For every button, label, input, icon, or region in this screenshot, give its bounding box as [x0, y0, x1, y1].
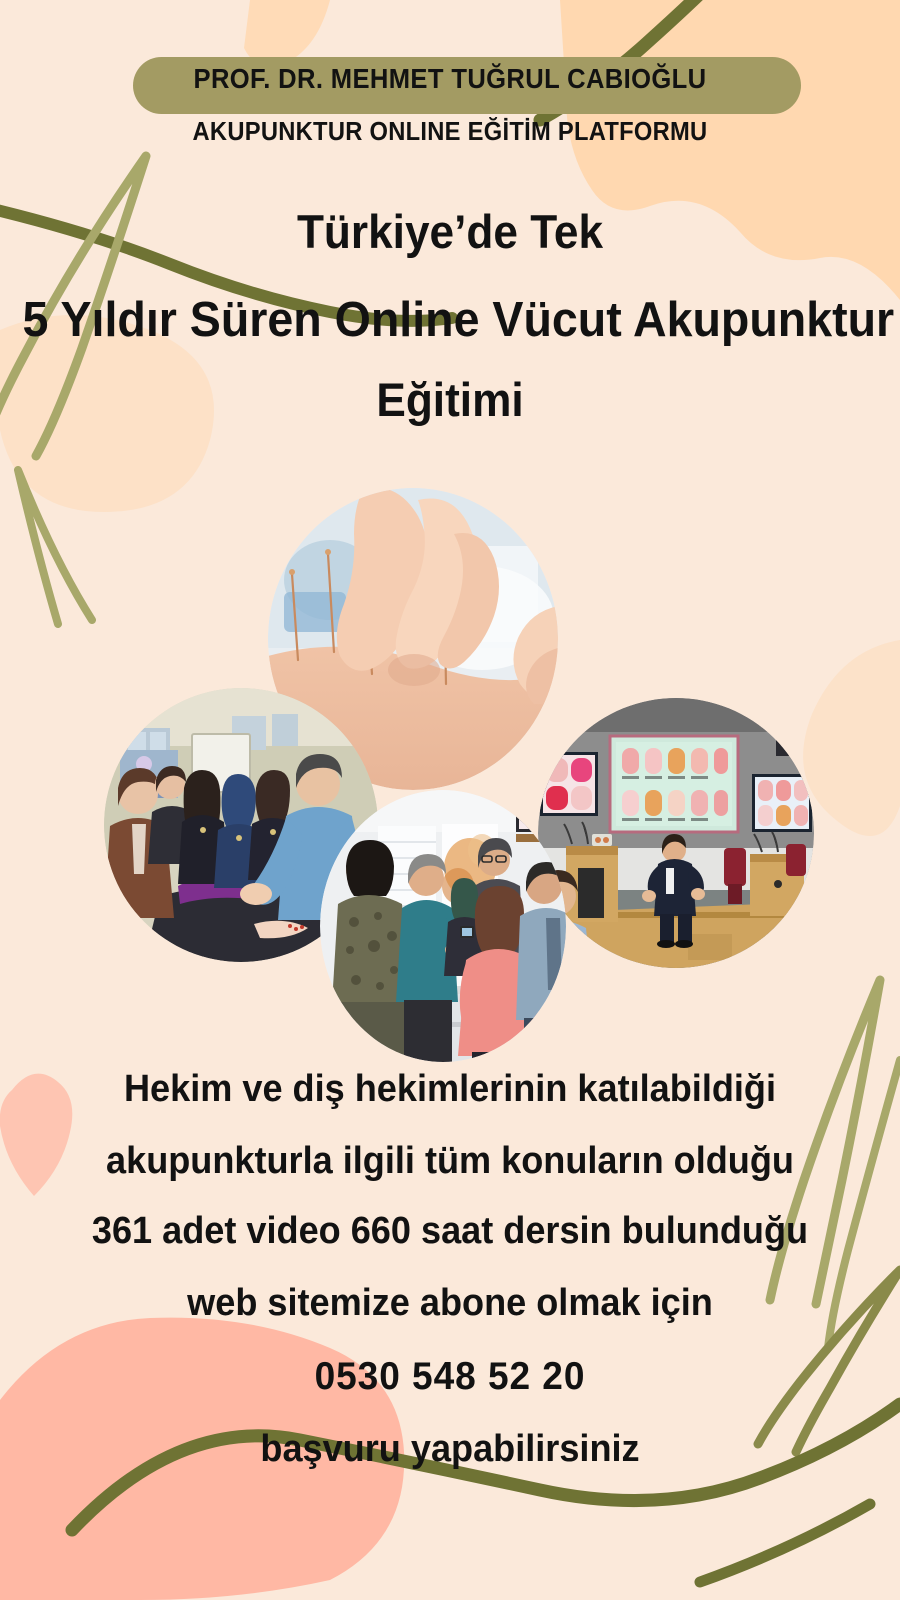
poster-canvas: PROF. DR. MEHMET TUĞRUL CABIOĞLU AKUPUNK… [0, 0, 900, 1600]
headline-line-2: 5 Yıldır Süren Online Vücut Akupunktur [23, 292, 878, 348]
photo-clinic-training-session [320, 790, 566, 1062]
photo-lecture-hall-presentation [538, 698, 814, 968]
body-line-4: web sitemize abone olmak için [23, 1282, 878, 1325]
body-line-1: Hekim ve diş hekimlerinin katılabildiği [23, 1068, 878, 1111]
platform-subtitle: AKUPUNKTUR ONLINE EĞİTİM PLATFORMU [32, 118, 869, 147]
presenter-name: PROF. DR. MEHMET TUĞRUL CABIOĞLU [32, 63, 869, 95]
body-line-3: 361 adet video 660 saat dersin bulunduğu [23, 1210, 878, 1253]
headline-line-1: Türkiye’de Tek [27, 204, 873, 259]
body-line-6: başvuru yapabilirsiniz [23, 1428, 878, 1471]
contact-phone-number[interactable]: 0530 548 52 20 [23, 1355, 878, 1399]
headline-line-3: Eğitimi [27, 372, 873, 427]
body-line-2: akupunkturla ilgili tüm konuların olduğu [23, 1140, 878, 1183]
